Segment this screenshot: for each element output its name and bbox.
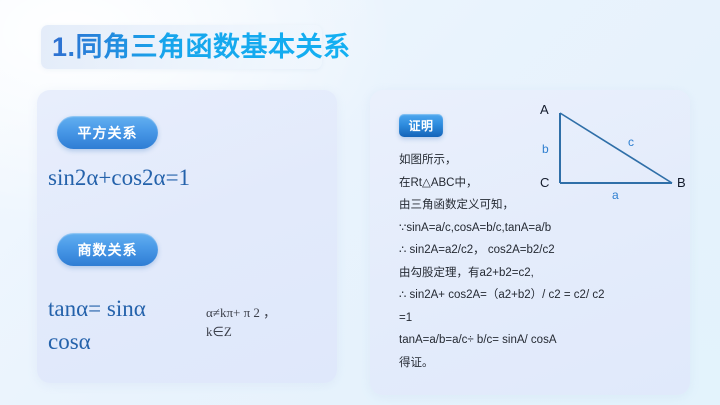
vertex-label-a: A bbox=[540, 102, 549, 117]
quotient-relation-badge: 商数关系 bbox=[57, 233, 158, 266]
side-label-c: c bbox=[628, 135, 634, 149]
quotient-relation-formula: tanα= sinα cosα bbox=[48, 292, 188, 358]
proof-line: ∵sinA=a/c,cosA=b/c,tanA=a/b bbox=[399, 217, 671, 240]
condition-line-1: α≠kπ+ π 2 ， bbox=[206, 303, 316, 322]
quotient-relation-condition: α≠kπ+ π 2 ， k∈Z bbox=[206, 303, 316, 341]
right-triangle-figure: A C B b a c bbox=[500, 95, 690, 200]
proof-badge: 证明 bbox=[399, 114, 443, 137]
proof-line: tanA=a/b=a/c÷ b/c= sinA/ cosA bbox=[399, 329, 671, 352]
page-title: 1.同角三角函数基本关系 bbox=[52, 29, 351, 65]
triangle-diagram-icon: A C B b a c bbox=[500, 95, 690, 200]
slide-canvas: 1.同角三角函数基本关系 平方关系 sin2α+cos2α=1 商数关系 tan… bbox=[0, 0, 720, 405]
proof-badge-label: 证明 bbox=[408, 117, 433, 134]
proof-line: ∴ sin2A+ cos2A=（a2+b2）/ c2 = c2/ c2 bbox=[399, 284, 671, 307]
vertex-label-c: C bbox=[540, 175, 549, 190]
proof-line: ∴ sin2A=a2/c2， cos2A=b2/c2 bbox=[399, 239, 671, 262]
square-relation-badge-label: 平方关系 bbox=[78, 123, 138, 143]
proof-line: 由勾股定理，有a2+b2=c2, bbox=[399, 262, 671, 285]
side-label-a: a bbox=[612, 188, 619, 200]
triangle-side-c-line bbox=[560, 113, 672, 183]
proof-line: =1 bbox=[399, 307, 671, 330]
square-relation-formula: sin2α+cos2α=1 bbox=[48, 163, 190, 193]
proof-line: 得证。 bbox=[399, 352, 671, 375]
quotient-relation-badge-label: 商数关系 bbox=[78, 240, 138, 260]
side-label-b: b bbox=[542, 142, 549, 156]
condition-line-2: k∈Z bbox=[206, 322, 316, 341]
vertex-label-b: B bbox=[677, 175, 686, 190]
square-relation-badge: 平方关系 bbox=[57, 116, 158, 149]
